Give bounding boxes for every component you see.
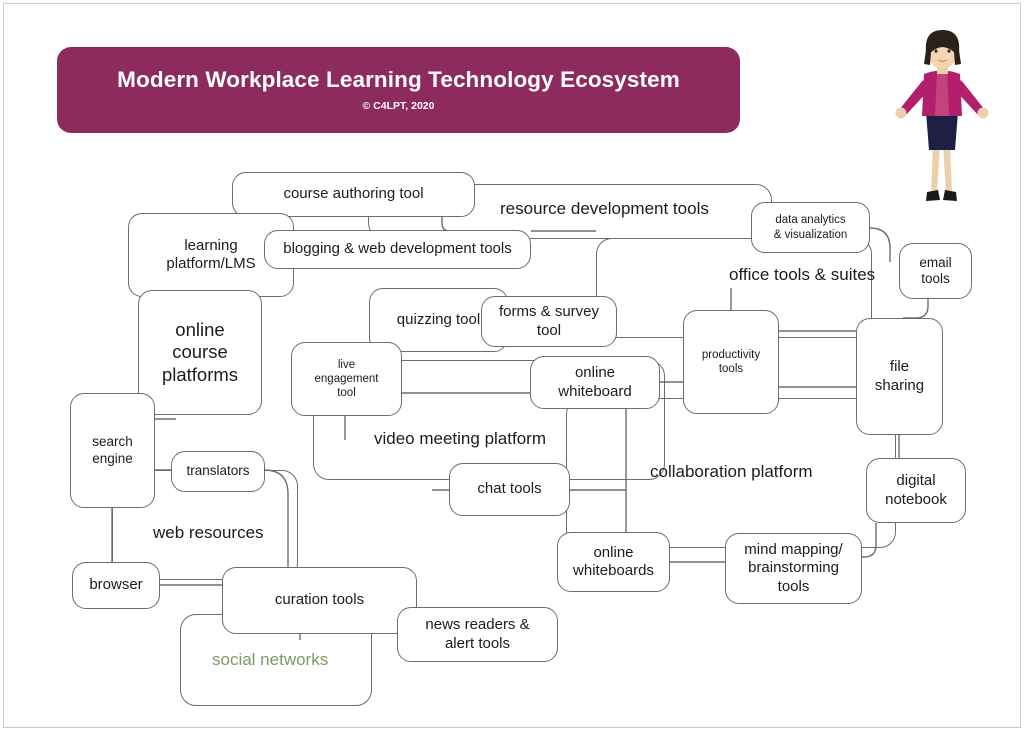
node-blogging-web-development-tools[interactable]: blogging & web development tools (264, 230, 531, 269)
node-digital-notebook[interactable]: digital notebook (866, 458, 966, 523)
node-news-readers-alert-tools[interactable]: news readers & alert tools (397, 607, 558, 662)
group-label-social-networks: social networks (212, 650, 328, 670)
node-online-whiteboard[interactable]: online whiteboard (530, 356, 660, 409)
node-course-authoring-tool[interactable]: course authoring tool (232, 172, 475, 217)
copyright-notice: © C4LPT, 2020 (363, 100, 435, 112)
group-label-video-meeting-platform: video meeting platform (374, 429, 546, 449)
node-email-tools[interactable]: email tools (899, 243, 972, 299)
node-forms-survey-tool[interactable]: forms & survey tool (481, 296, 617, 347)
group-label-resource-development-tools: resource development tools (500, 199, 709, 219)
node-online-whiteboards[interactable]: online whiteboards (557, 532, 670, 592)
node-live-engagement-tool[interactable]: live engagement tool (291, 342, 402, 416)
diagram-canvas: Modern Workplace Learning Technology Eco… (0, 0, 1024, 731)
group-label-collaboration-platform: collaboration platform (650, 462, 813, 482)
page-title: Modern Workplace Learning Technology Eco… (117, 68, 680, 93)
node-online-course-platforms[interactable]: online course platforms (138, 290, 262, 415)
node-curation-tools[interactable]: curation tools (222, 567, 417, 634)
node-chat-tools[interactable]: chat tools (449, 463, 570, 516)
group-label-web-resources: web resources (153, 523, 264, 543)
woman-illustration (893, 24, 991, 220)
title-banner: Modern Workplace Learning Technology Eco… (57, 47, 740, 133)
node-file-sharing[interactable]: file sharing (856, 318, 943, 435)
node-mind-mapping-brainstorming-tools[interactable]: mind mapping/ brainstorming tools (725, 533, 862, 604)
node-browser[interactable]: browser (72, 562, 160, 609)
group-label-office-tools-and-suites: office tools & suites (729, 265, 875, 285)
node-search-engine[interactable]: search engine (70, 393, 155, 508)
node-productivity-tools[interactable]: productivity tools (683, 310, 779, 414)
node-data-analytics-visualization[interactable]: data analytics & visualization (751, 202, 870, 253)
node-translators[interactable]: translators (171, 451, 265, 492)
